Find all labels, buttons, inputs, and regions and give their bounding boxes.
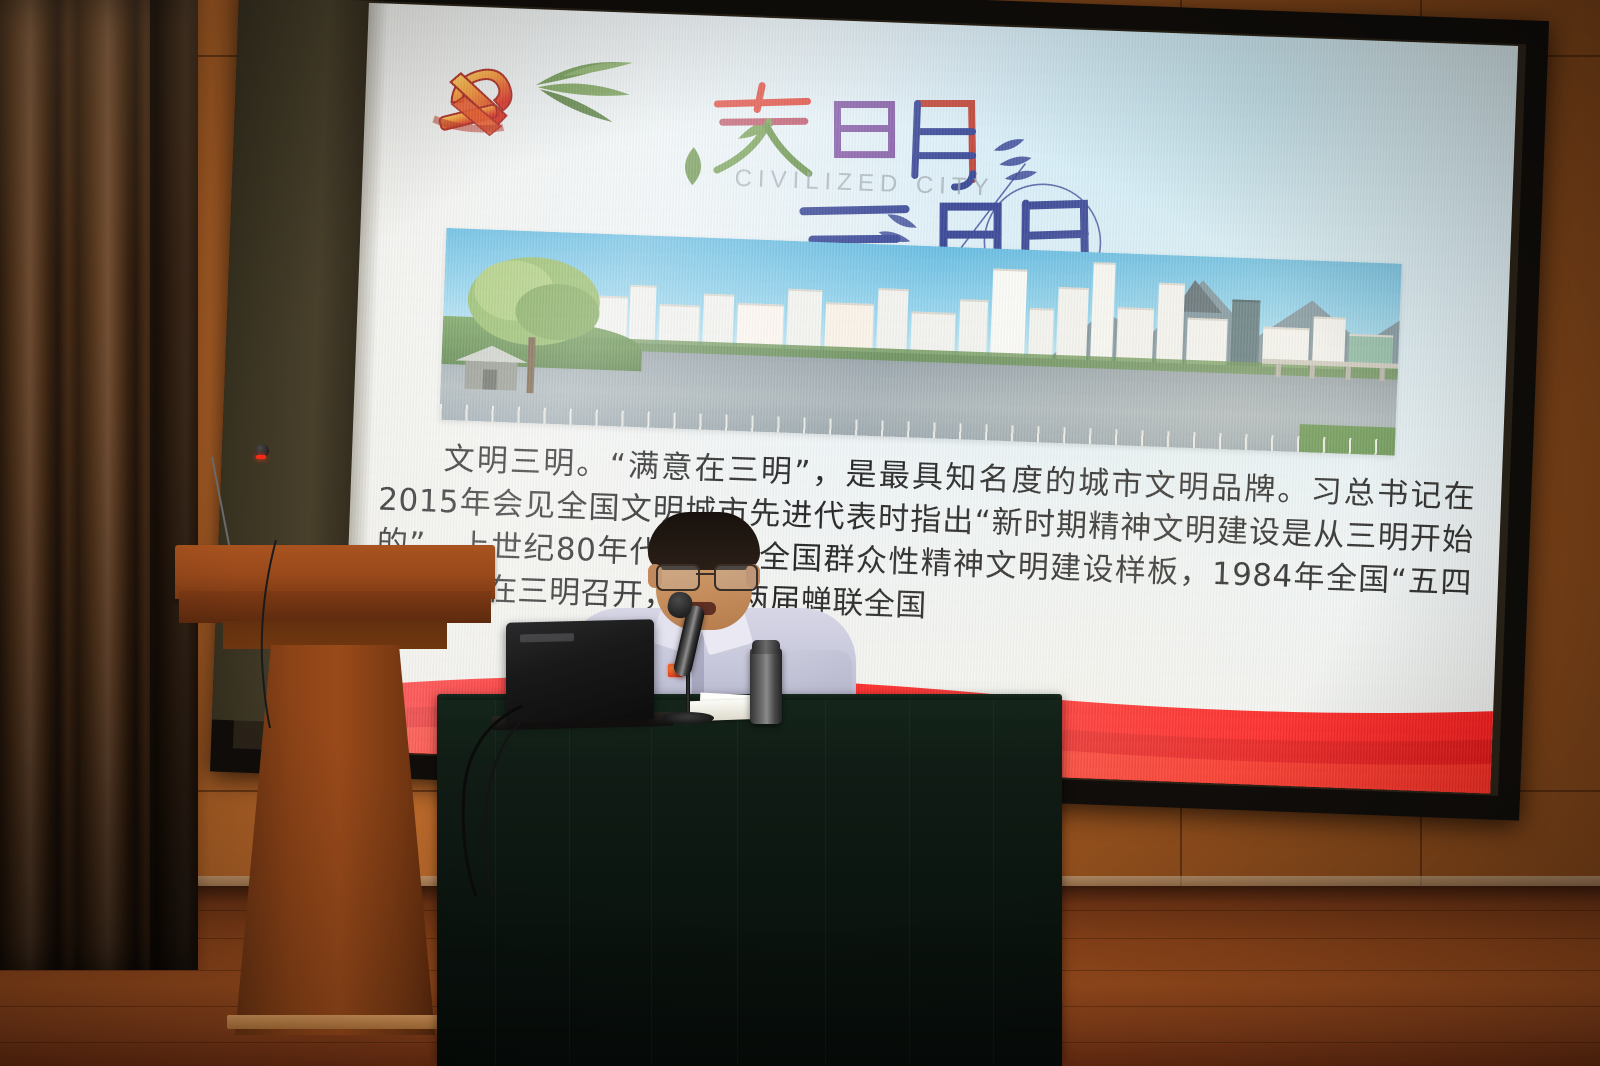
podium-cable — [236, 540, 296, 730]
metal-thermos-flask — [750, 648, 782, 724]
power-cable — [430, 700, 550, 900]
stage-curtain — [0, 0, 198, 970]
eyeglasses-icon — [656, 564, 754, 588]
microphone-led-indicator — [256, 455, 266, 459]
lecture-hall-scene: CIVILIZED CITY — [0, 0, 1600, 1066]
laptop-logo-icon — [520, 633, 574, 642]
